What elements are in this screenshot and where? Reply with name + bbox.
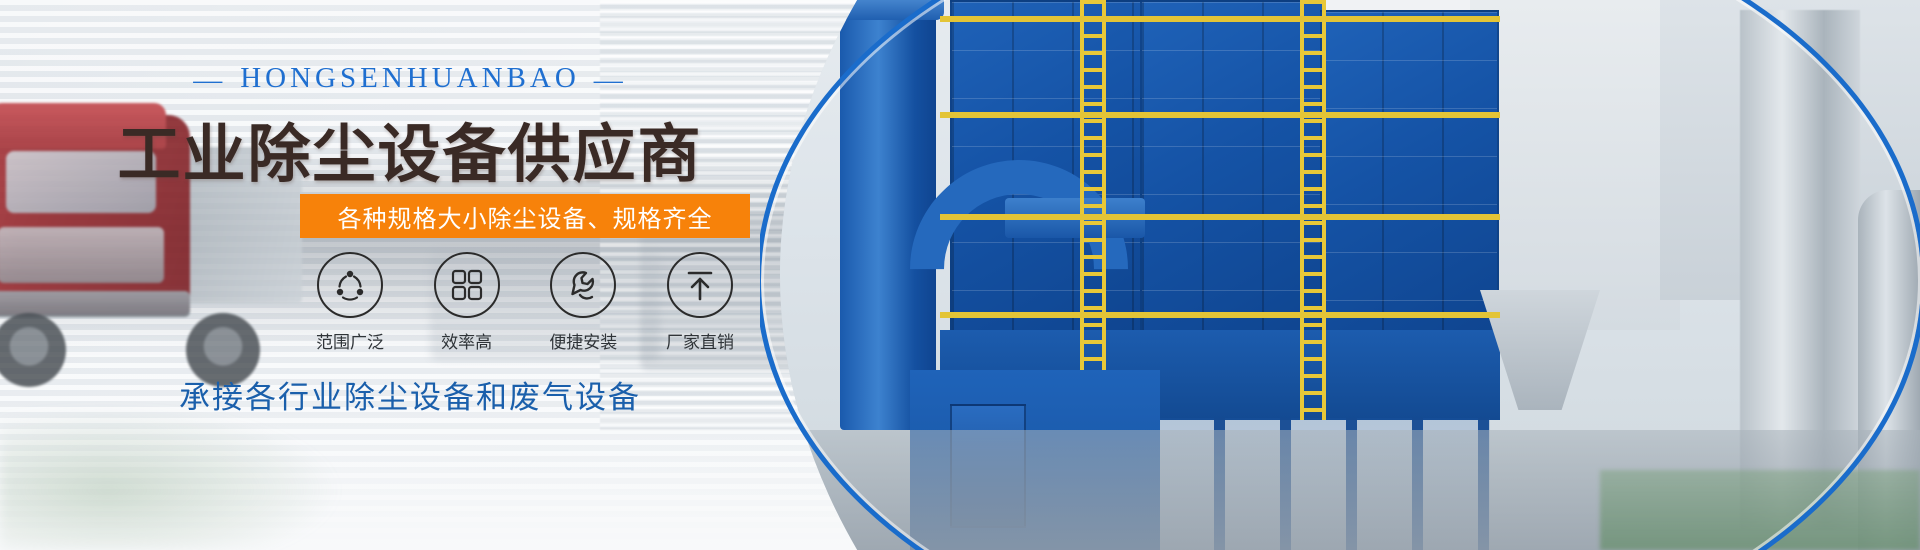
feature-item-high-efficiency: 效率高: [417, 252, 517, 362]
feature-list: 范围广泛 效率高: [300, 252, 750, 362]
wrench-icon: [550, 252, 616, 318]
page-title: 工业除尘设备供应商: [0, 104, 820, 195]
network-share-icon: [317, 252, 383, 318]
banner-subline: 承接各行业除尘设备和废气设备: [0, 372, 820, 417]
eyebrow-dash-left: —: [193, 64, 226, 97]
feature-label: 厂家直销: [650, 328, 750, 353]
brand-eyebrow: —HONGSENHUANBAO—: [0, 62, 820, 97]
feature-item-easy-install: 便捷安装: [533, 252, 633, 362]
upload-arrow-icon: [667, 252, 733, 318]
tagline-text: 各种规格大小除尘设备、规格齐全: [338, 199, 713, 234]
eyebrow-text: HONGSENHUANBAO: [240, 62, 580, 94]
feature-label: 便捷安装: [533, 328, 633, 353]
feature-item-wide-range: 范围广泛: [300, 252, 400, 362]
banner-text-content: —HONGSENHUANBAO— 工业除尘设备供应商 各种规格大小除尘设备、规格…: [0, 0, 820, 550]
blue-arc-divider: [760, 0, 1920, 550]
arc-divider-mask: [760, 0, 1920, 550]
feature-label: 范围广泛: [300, 328, 400, 353]
grid-four-squares-icon: [434, 252, 500, 318]
eyebrow-dash-right: —: [594, 64, 627, 97]
feature-label: 效率高: [417, 328, 517, 353]
tagline-bar: 各种规格大小除尘设备、规格齐全: [300, 194, 750, 238]
hero-banner: —HONGSENHUANBAO— 工业除尘设备供应商 各种规格大小除尘设备、规格…: [0, 0, 1920, 550]
feature-item-factory-direct: 厂家直销: [650, 252, 750, 362]
